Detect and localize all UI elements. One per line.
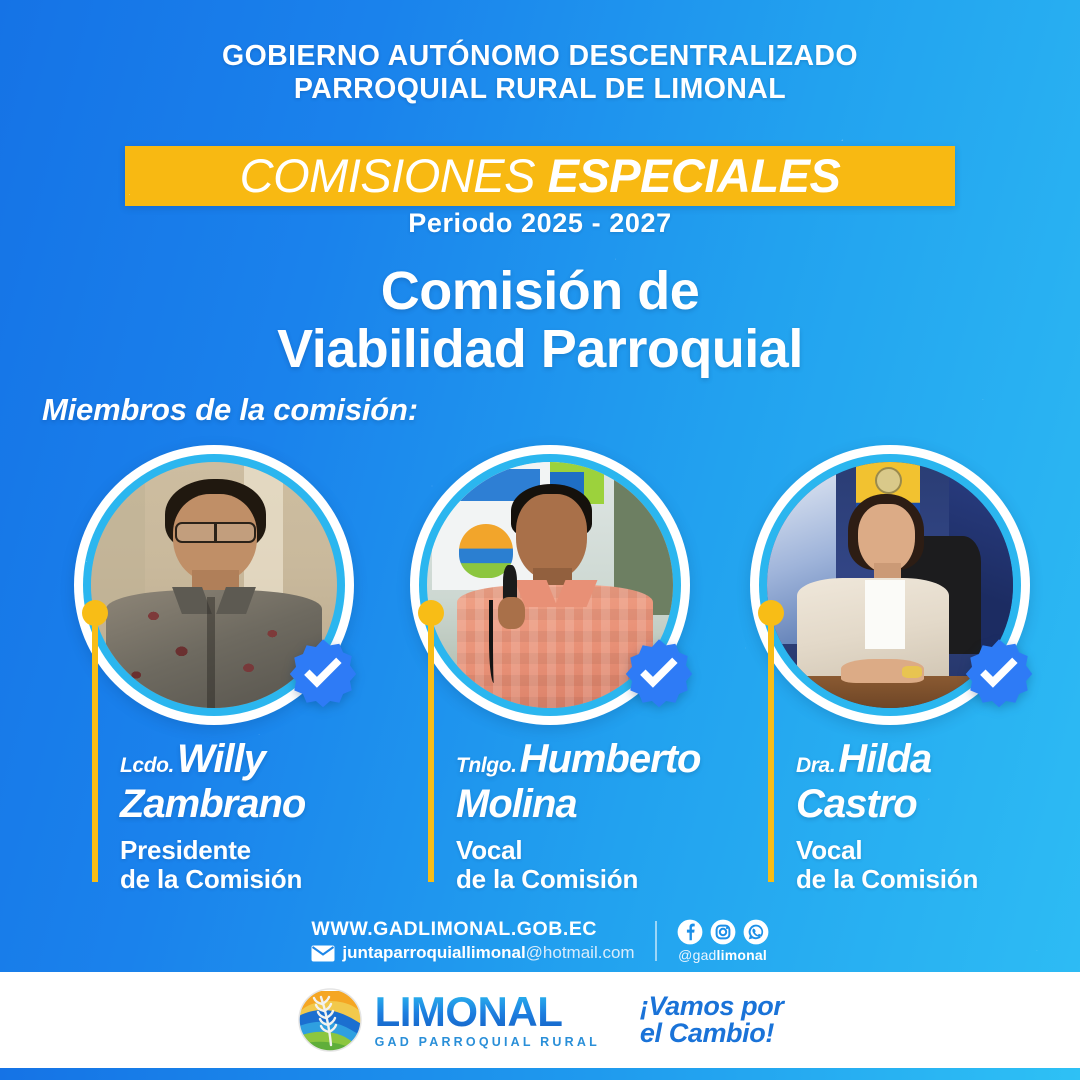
member-first-name: Humberto (520, 737, 701, 781)
member-name-block: Tnlgo.Humberto Molina Vocal de la Comisi… (456, 740, 746, 894)
member-last-name: Zambrano (120, 785, 410, 823)
social-icons (677, 919, 769, 945)
period-label: Periodo 2025 - 2027 (0, 208, 1080, 239)
slogan-line1: ¡Vamos por (640, 993, 784, 1020)
envelope-icon (311, 945, 335, 962)
member-title-prefix: Lcdo. (120, 754, 174, 777)
members-list: Lcdo.Willy Zambrano Presidente de la Com… (0, 445, 1080, 895)
limonal-emblem-icon (297, 987, 363, 1053)
banner-title: COMISIONES ESPECIALES (240, 151, 841, 201)
social-handle: @gadlimonal (677, 947, 769, 963)
contact-strip: WWW.GADLIMONAL.GOB.EC juntaparroquiallim… (0, 918, 1080, 963)
member-card: Dra.Hilda Castro Vocal de la Comisión (738, 445, 1078, 895)
special-commissions-banner: COMISIONES ESPECIALES (125, 146, 955, 206)
avatar (750, 445, 1030, 725)
limonal-logo: LIMONAL GAD PARROQUIAL RURAL (297, 987, 600, 1053)
verified-badge-icon (622, 637, 696, 711)
limonal-logo-text: LIMONAL GAD PARROQUIAL RURAL (375, 991, 600, 1049)
yellow-connector (758, 600, 786, 882)
social-block: @gadlimonal (677, 919, 769, 963)
organization-title-line2: PARROQUIAL RURAL DE LIMONAL (0, 73, 1080, 106)
member-role: Presidente de la Comisión (120, 836, 410, 894)
member-role-line2: de la Comisión (120, 865, 410, 894)
member-first-name: Hilda (838, 737, 931, 781)
member-name-block: Dra.Hilda Castro Vocal de la Comisión (796, 740, 1080, 894)
member-name-line1: Dra.Hilda (796, 740, 1080, 785)
email-domain: @hotmail.com (526, 943, 635, 962)
bottom-accent-strip (0, 1068, 1080, 1080)
poster-canvas: GOBIERNO AUTÓNOMO DESCENTRALIZADO PARROQ… (0, 0, 1080, 1080)
verified-badge-icon (962, 637, 1036, 711)
commission-name: Comisión de Viabilidad Parroquial (0, 262, 1080, 378)
email-user: juntaparroquiallimonal (342, 943, 525, 962)
member-card: Lcdo.Willy Zambrano Presidente de la Com… (62, 445, 402, 895)
contact-divider (655, 921, 657, 961)
whatsapp-icon[interactable] (743, 919, 769, 945)
member-card: Tnlgo.Humberto Molina Vocal de la Comisi… (398, 445, 738, 895)
member-role: Vocal de la Comisión (456, 836, 746, 894)
slogan-line2: el Cambio! (640, 1020, 784, 1047)
member-name-line1: Tnlgo.Humberto (456, 740, 746, 785)
yellow-connector (82, 600, 110, 882)
handle-prefix: @gad (678, 947, 716, 963)
website-link[interactable]: WWW.GADLIMONAL.GOB.EC (311, 918, 634, 940)
contact-details: WWW.GADLIMONAL.GOB.EC juntaparroquiallim… (311, 918, 634, 963)
footer-bar: LIMONAL GAD PARROQUIAL RURAL ¡Vamos por … (0, 972, 1080, 1068)
member-name-line1: Lcdo.Willy (120, 740, 410, 785)
member-role-line1: Presidente (120, 836, 410, 865)
verified-badge-icon (286, 637, 360, 711)
avatar (410, 445, 690, 725)
limonal-subtitle: GAD PARROQUIAL RURAL (375, 1036, 600, 1049)
banner-title-bold: ESPECIALES (548, 149, 841, 202)
email-address[interactable]: juntaparroquiallimonal@hotmail.com (342, 943, 634, 963)
member-name-block: Lcdo.Willy Zambrano Presidente de la Com… (120, 740, 410, 894)
yellow-connector (418, 600, 446, 882)
members-heading: Miembros de la comisión: (42, 392, 418, 428)
member-first-name: Willy (177, 737, 265, 781)
facebook-icon[interactable] (677, 919, 703, 945)
member-title-prefix: Dra. (796, 754, 835, 777)
commission-name-line1: Comisión de (0, 262, 1080, 320)
member-last-name: Castro (796, 785, 1080, 823)
organization-title-line1: GOBIERNO AUTÓNOMO DESCENTRALIZADO (0, 40, 1080, 73)
member-last-name: Molina (456, 785, 746, 823)
limonal-wordmark: LIMONAL (375, 991, 600, 1033)
slogan: ¡Vamos por el Cambio! (640, 993, 784, 1047)
organization-title: GOBIERNO AUTÓNOMO DESCENTRALIZADO PARROQ… (0, 40, 1080, 106)
member-role-line2: de la Comisión (456, 865, 746, 894)
instagram-icon[interactable] (710, 919, 736, 945)
member-role-line1: Vocal (456, 836, 746, 865)
email-row[interactable]: juntaparroquiallimonal@hotmail.com (311, 943, 634, 963)
commission-name-line2: Viabilidad Parroquial (0, 320, 1080, 378)
handle-bold: limonal (717, 947, 767, 963)
banner-title-light: COMISIONES (240, 149, 535, 202)
member-role: Vocal de la Comisión (796, 836, 1080, 894)
avatar (74, 445, 354, 725)
member-role-line2: de la Comisión (796, 865, 1080, 894)
member-title-prefix: Tnlgo. (456, 754, 517, 777)
member-role-line1: Vocal (796, 836, 1080, 865)
